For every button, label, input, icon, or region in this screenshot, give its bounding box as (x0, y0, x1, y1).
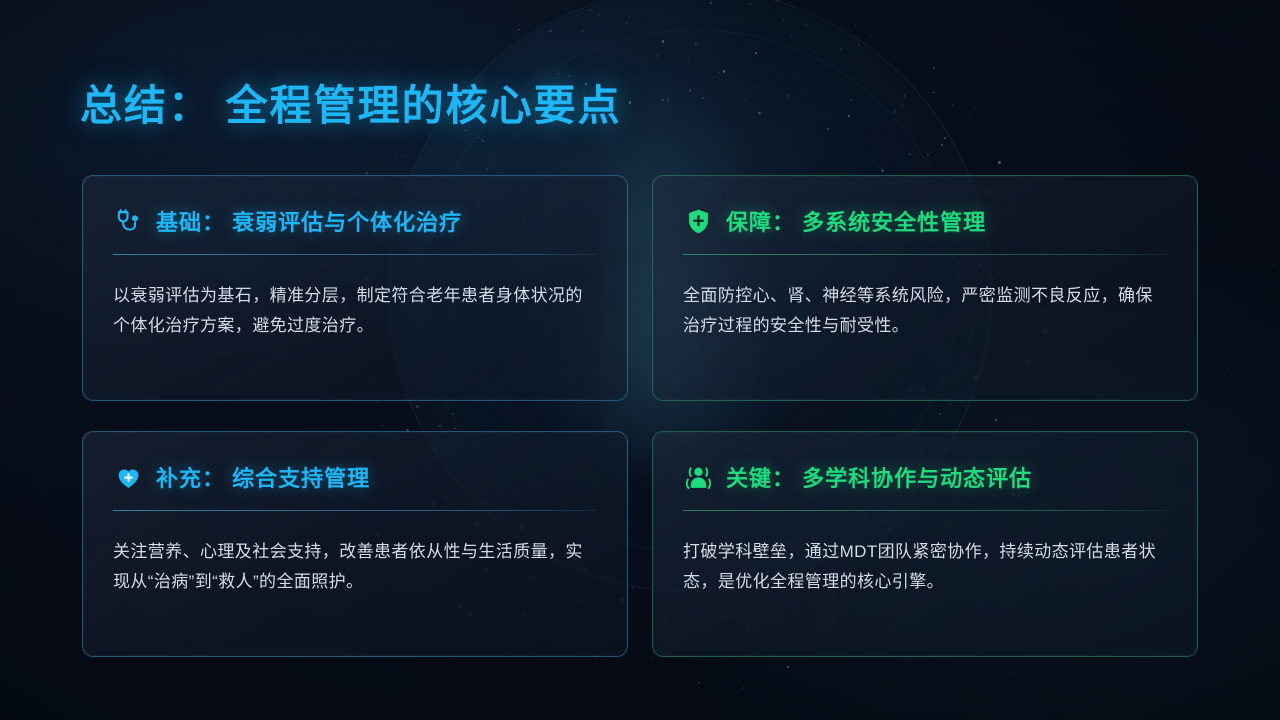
shield-plus-icon (683, 206, 713, 236)
card-title: 基础： 衰弱评估与个体化治疗 (156, 205, 462, 237)
card-body-text: 全面防控心、肾、神经等系统风险，严密监测不良反应，确保治疗过程的安全性与耐受性。 (683, 281, 1167, 341)
card-body-text: 关注营养、心理及社会支持，改善患者依从性与生活质量，实现从“治病”到“救人”的全… (113, 537, 597, 597)
card-title: 关键： 多学科协作与动态评估 (726, 461, 1032, 493)
card-body: 以衰弱评估为基石，精准分层，制定符合老年患者身体状况的个体化治疗方案，避免过度治… (113, 281, 597, 341)
summary-card-grid: 基础： 衰弱评估与个体化治疗 以衰弱评估为基石，精准分层，制定符合老年患者身体状… (82, 175, 1198, 657)
slide-root: 总结： 全程管理的核心要点 基础： 衰弱评估与个体化治疗 以衰弱评估为基石，精准… (0, 0, 1280, 720)
card-header: 基础： 衰弱评估与个体化治疗 (113, 202, 597, 240)
card-divider (683, 254, 1167, 255)
card-body: 关注营养、心理及社会支持，改善患者依从性与生活质量，实现从“治病”到“救人”的全… (113, 537, 597, 597)
user-team-icon (683, 462, 713, 492)
card-divider (683, 510, 1167, 511)
card-header: 保障： 多系统安全性管理 (683, 202, 1167, 240)
heart-plus-icon (113, 462, 143, 492)
card-safeguard[interactable]: 保障： 多系统安全性管理 全面防控心、肾、神经等系统风险，严密监测不良反应，确保… (652, 175, 1198, 401)
card-body: 全面防控心、肾、神经等系统风险，严密监测不良反应，确保治疗过程的安全性与耐受性。 (683, 281, 1167, 341)
card-supplement[interactable]: 补充： 综合支持管理 关注营养、心理及社会支持，改善患者依从性与生活质量，实现从… (82, 431, 628, 657)
card-title: 补充： 综合支持管理 (156, 461, 370, 493)
card-foundation[interactable]: 基础： 衰弱评估与个体化治疗 以衰弱评估为基石，精准分层，制定符合老年患者身体状… (82, 175, 628, 401)
card-key[interactable]: 关键： 多学科协作与动态评估 打破学科壁垒，通过MDT团队紧密协作，持续动态评估… (652, 431, 1198, 657)
card-header: 补充： 综合支持管理 (113, 458, 597, 496)
card-body-text: 打破学科壁垒，通过MDT团队紧密协作，持续动态评估患者状态，是优化全程管理的核心… (683, 537, 1167, 597)
card-title: 保障： 多系统安全性管理 (726, 205, 986, 237)
stethoscope-icon (113, 206, 143, 236)
page-title: 总结： 全程管理的核心要点 (80, 72, 622, 133)
card-header: 关键： 多学科协作与动态评估 (683, 458, 1167, 496)
card-divider (113, 510, 597, 511)
card-divider (113, 254, 597, 255)
card-body: 打破学科壁垒，通过MDT团队紧密协作，持续动态评估患者状态，是优化全程管理的核心… (683, 537, 1167, 597)
card-body-text: 以衰弱评估为基石，精准分层，制定符合老年患者身体状况的个体化治疗方案，避免过度治… (113, 281, 597, 341)
